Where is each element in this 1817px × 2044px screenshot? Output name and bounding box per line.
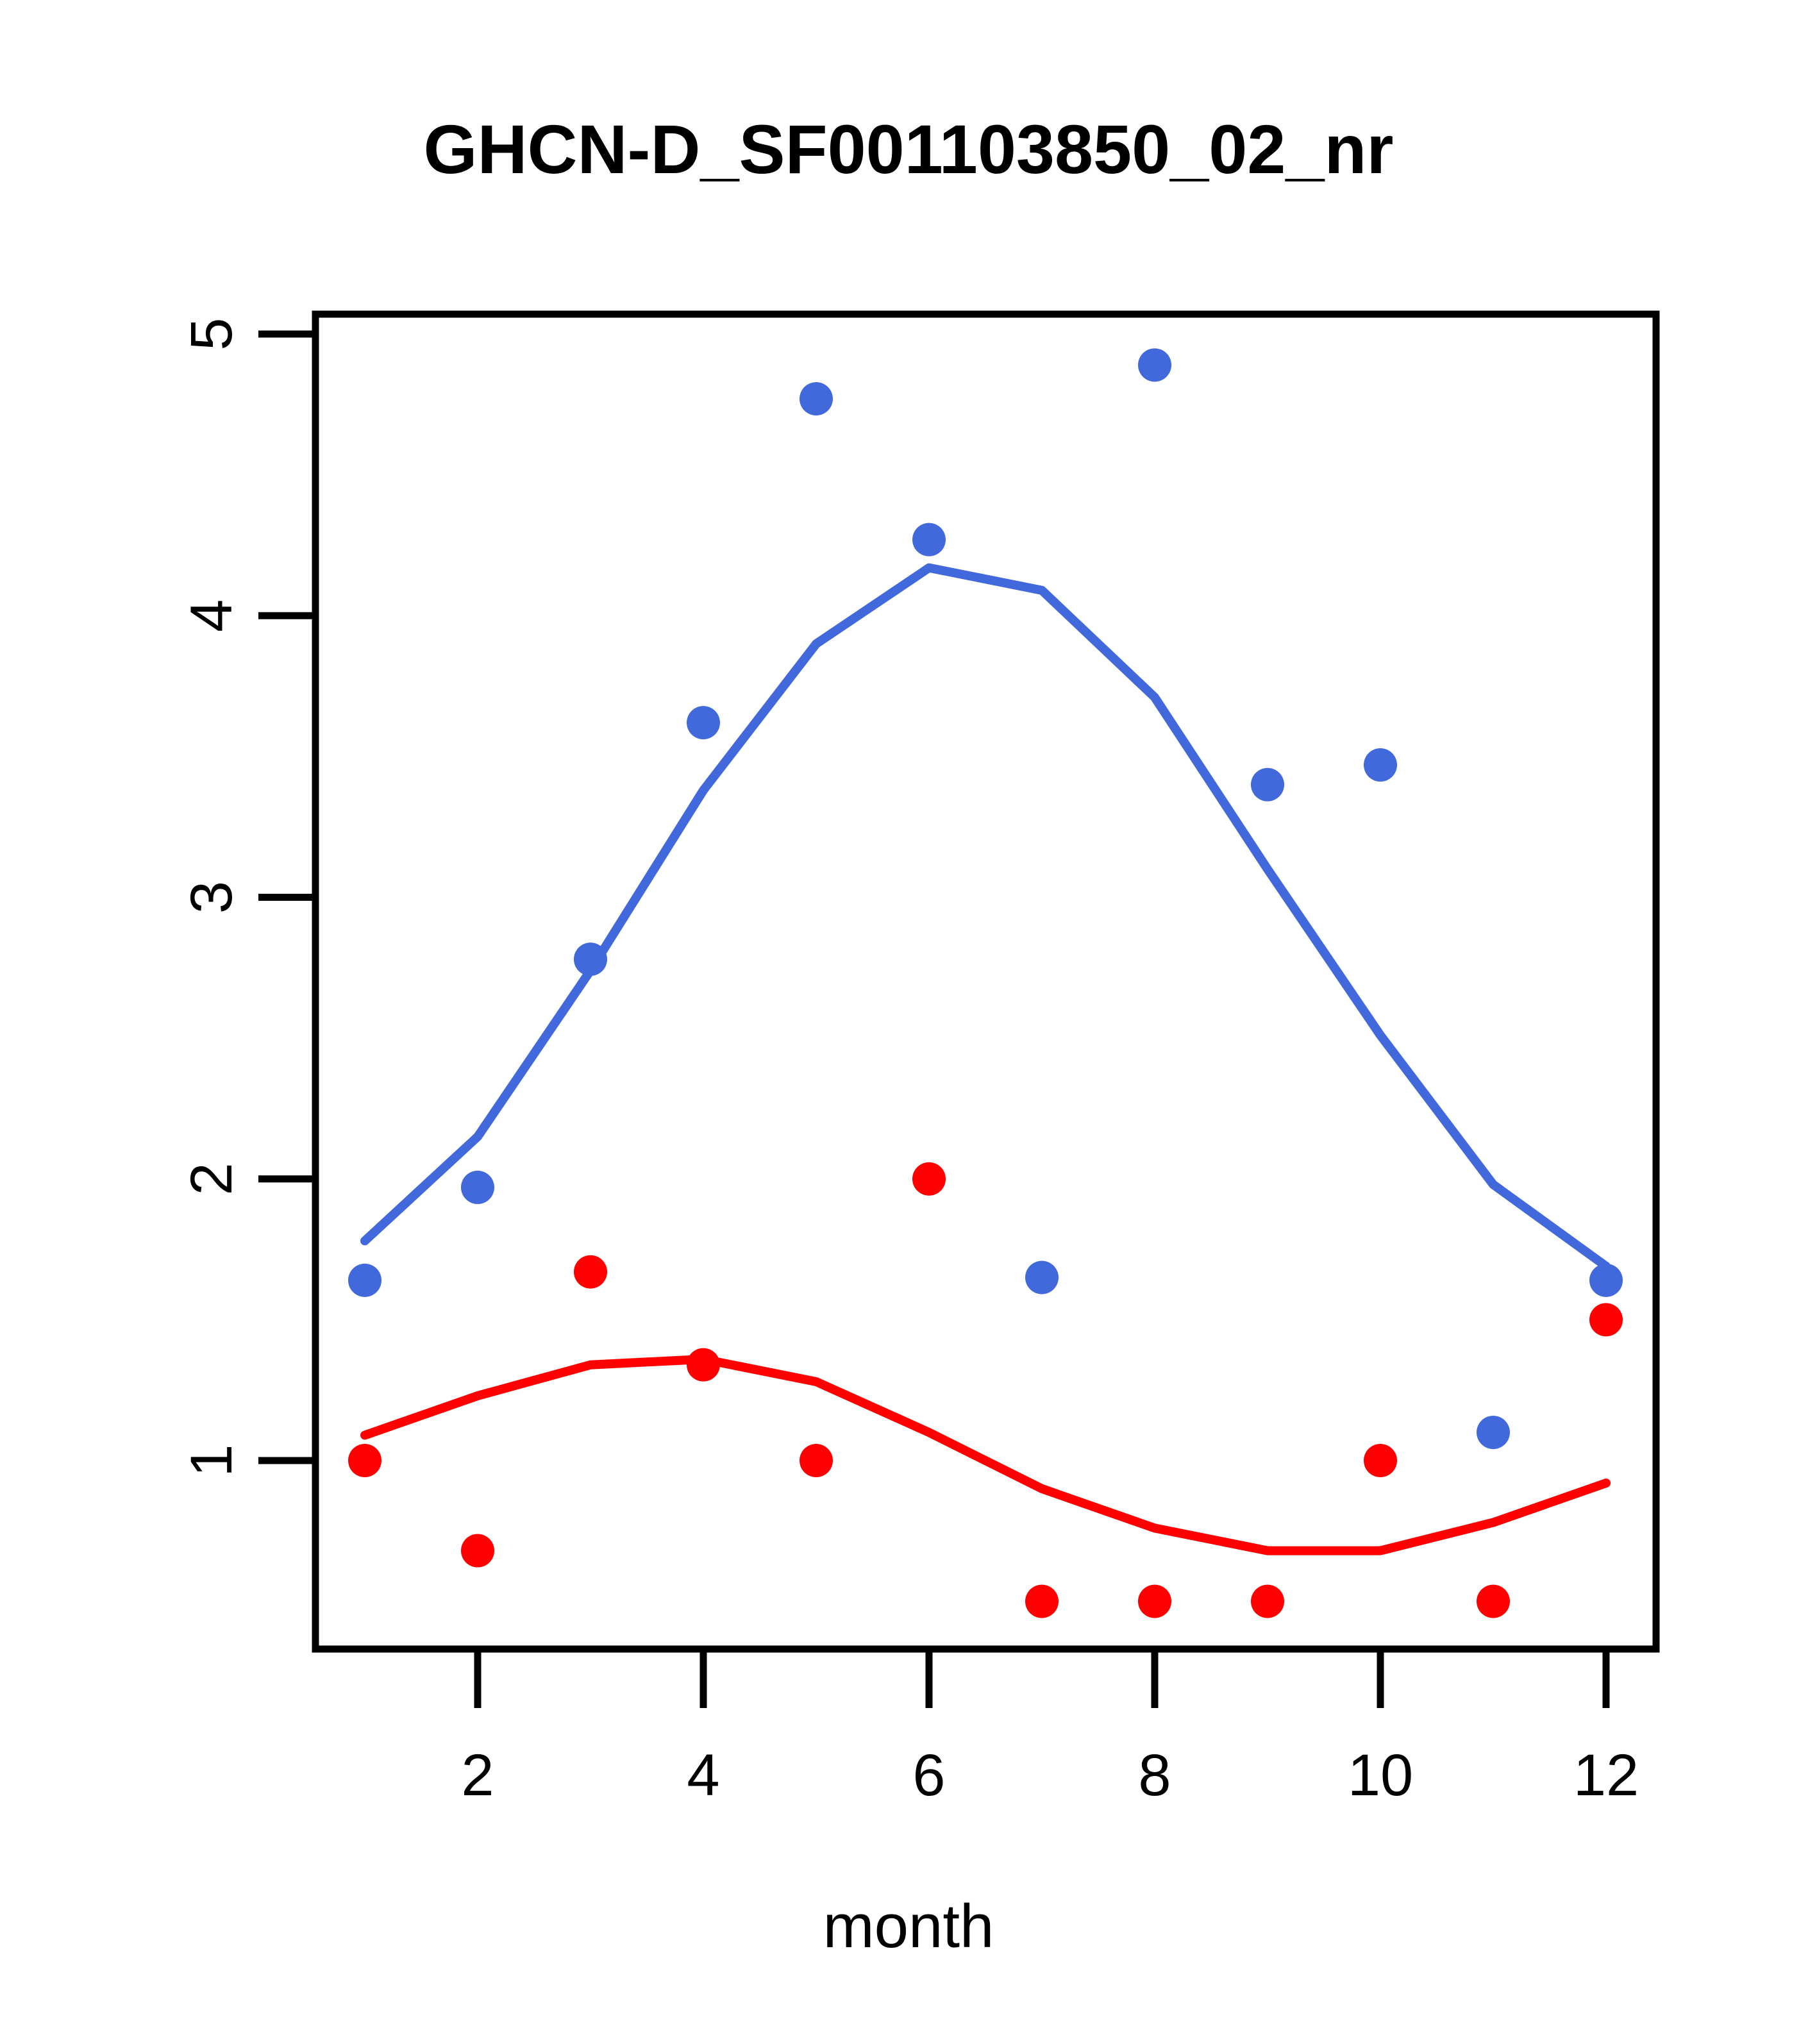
data-point-blue-points [1589,1264,1623,1297]
x-axis-tick-label: 6 [912,1743,945,1808]
x-axis-tick-label: 8 [1138,1743,1171,1808]
x-axis-tick-label: 10 [1348,1743,1413,1808]
data-point-red-points [1364,1444,1397,1477]
y-axis-tick-label: 1 [179,1444,244,1477]
y-axis-tick-label: 3 [179,881,244,914]
data-point-blue-points [912,523,946,557]
data-point-blue-points [1251,768,1284,801]
data-point-blue-points [461,1171,494,1204]
data-point-blue-points [574,942,607,976]
x-axis-tick-label: 4 [687,1743,719,1808]
data-point-red-points [912,1162,946,1196]
data-point-blue-points [1477,1416,1510,1449]
data-point-red-points [1025,1585,1059,1618]
data-point-red-points [800,1444,833,1477]
y-axis-tick-label: 5 [179,317,244,350]
data-point-red-points [574,1255,607,1289]
x-axis-tick-label: 12 [1573,1743,1639,1808]
data-point-blue-points [1138,348,1171,381]
x-axis-label: month [0,1891,1817,1962]
data-point-blue-points [1364,748,1397,782]
data-point-red-points [1138,1585,1171,1618]
x-axis-ticks [478,1649,1606,1708]
data-point-red-points [1477,1585,1510,1618]
y-axis-tick-labels: 12345 [179,317,244,1477]
data-point-red-points [348,1444,381,1477]
data-point-red-points [1589,1303,1623,1336]
y-axis: 12345 [179,317,315,1477]
series-points-layer [348,348,1623,1618]
data-point-blue-points [800,382,833,415]
data-point-red-points [687,1348,720,1382]
data-point-blue-points [1025,1261,1059,1294]
data-point-blue-points [687,706,720,739]
data-point-red-points [461,1534,494,1568]
y-axis-ticks [258,334,315,1461]
data-point-blue-points [348,1264,381,1297]
x-axis-tick-label: 2 [461,1743,494,1808]
chart-page: GHCN-D_SF001103850_02_nr 12345 24681012 … [0,0,1817,2044]
chart-plot-area: 12345 24681012 [0,0,1817,2044]
series-lines-layer [365,568,1606,1551]
y-axis-tick-label: 2 [179,1162,244,1195]
x-axis: 24681012 [409,1649,1639,1808]
plot-frame [315,314,1656,1649]
x-axis-tick-labels: 24681012 [461,1743,1639,1808]
data-point-red-points [1251,1585,1284,1618]
y-axis-tick-label: 4 [179,599,244,632]
series-line-blue-smooth-line [365,568,1606,1266]
series-line-red-smooth-line [365,1359,1606,1551]
